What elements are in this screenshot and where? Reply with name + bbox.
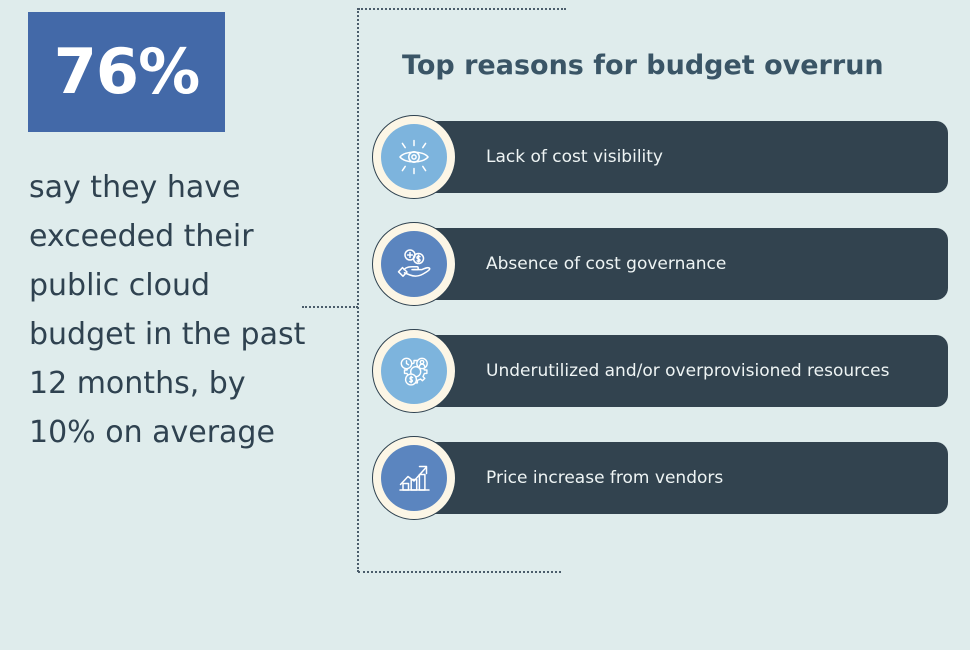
growth-chart-icon (381, 445, 447, 511)
list-item: Absence of cost governance (358, 228, 970, 300)
stat-value: 76% (54, 41, 199, 103)
list-item: Underutilized and/or overprovisioned res… (358, 335, 970, 407)
hand-holding-coins-icon (381, 231, 447, 297)
reason-label: Underutilized and/or overprovisioned res… (420, 360, 911, 382)
dotted-frame-connector (302, 306, 358, 308)
list-item: Price increase from vendors (358, 442, 970, 514)
eye-icon (381, 124, 447, 190)
reason-icon-badge (372, 436, 456, 520)
stat-description: say they have exceeded their public clou… (29, 163, 309, 457)
reason-pill: Absence of cost governance (420, 228, 948, 300)
reason-label: Lack of cost visibility (420, 146, 685, 168)
reason-pill: Underutilized and/or overprovisioned res… (420, 335, 948, 407)
reason-pill: Price increase from vendors (420, 442, 948, 514)
reason-icon-badge (372, 115, 456, 199)
reason-icon-badge (372, 329, 456, 413)
gear-resources-icon (381, 338, 447, 404)
reasons-panel: Top reasons for budget overrun Lack of c… (358, 8, 970, 572)
list-item: Lack of cost visibility (358, 121, 970, 193)
reason-label: Absence of cost governance (420, 253, 748, 275)
reason-icon-badge (372, 222, 456, 306)
reason-list: Lack of cost visibility (358, 121, 970, 549)
stat-badge: 76% (28, 12, 225, 132)
reason-pill: Lack of cost visibility (420, 121, 948, 193)
stat-column: 76% say they have exceeded their public … (0, 0, 330, 650)
panel-title: Top reasons for budget overrun (402, 50, 884, 81)
reason-label: Price increase from vendors (420, 467, 745, 489)
